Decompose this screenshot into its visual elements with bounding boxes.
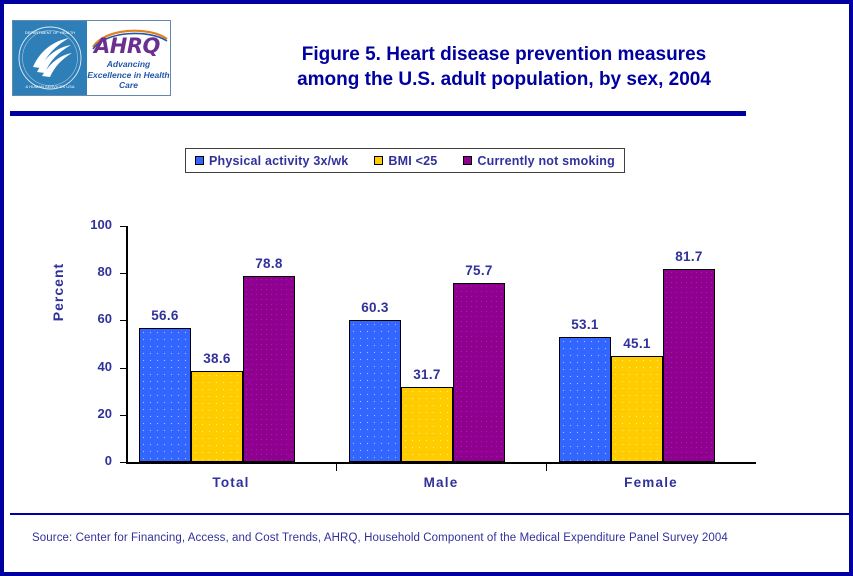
figure-slide: DEPARTMENT OF HEALTH & HUMAN SERVICES US… [0,0,853,576]
x-tick-mark [336,463,337,471]
bar [611,356,663,462]
x-axis-category-label: Male [336,475,546,490]
bar [191,371,243,462]
bar-value-label: 60.3 [343,300,407,315]
bar [139,328,191,462]
footer-divider [10,513,849,515]
y-tick-label: 40 [78,359,112,374]
y-tick-mark [120,226,126,227]
bar-value-label: 75.7 [447,263,511,278]
bar [453,283,505,462]
bar [401,387,453,462]
bar-value-label: 81.7 [657,249,721,264]
bar [663,269,715,462]
x-axis-category-label: Female [546,475,756,490]
y-tick-mark [120,320,126,321]
y-tick-mark [120,462,126,463]
bar-value-label: 53.1 [553,317,617,332]
y-tick-label: 20 [78,406,112,421]
y-axis-title: Percent [50,232,66,352]
y-tick-label: 100 [78,217,112,232]
bar-chart-plot: Percent 020406080100 56.638.678.860.331.… [4,4,849,572]
bar-value-label: 45.1 [605,336,669,351]
bar-value-label: 56.6 [133,308,197,323]
y-tick-label: 0 [78,453,112,468]
bar [243,276,295,462]
x-tick-mark [546,463,547,471]
y-axis-line [126,226,128,463]
bar [349,320,401,462]
y-tick-mark [120,368,126,369]
x-axis-category-label: Total [126,475,336,490]
y-tick-label: 80 [78,264,112,279]
bar-value-label: 31.7 [395,367,459,382]
y-tick-mark [120,415,126,416]
y-tick-label: 60 [78,311,112,326]
y-tick-mark [120,273,126,274]
bar-value-label: 78.8 [237,256,301,271]
source-note: Source: Center for Financing, Access, an… [32,532,832,544]
bar [559,337,611,462]
x-axis-line [126,462,756,464]
bar-value-label: 38.6 [185,351,249,366]
